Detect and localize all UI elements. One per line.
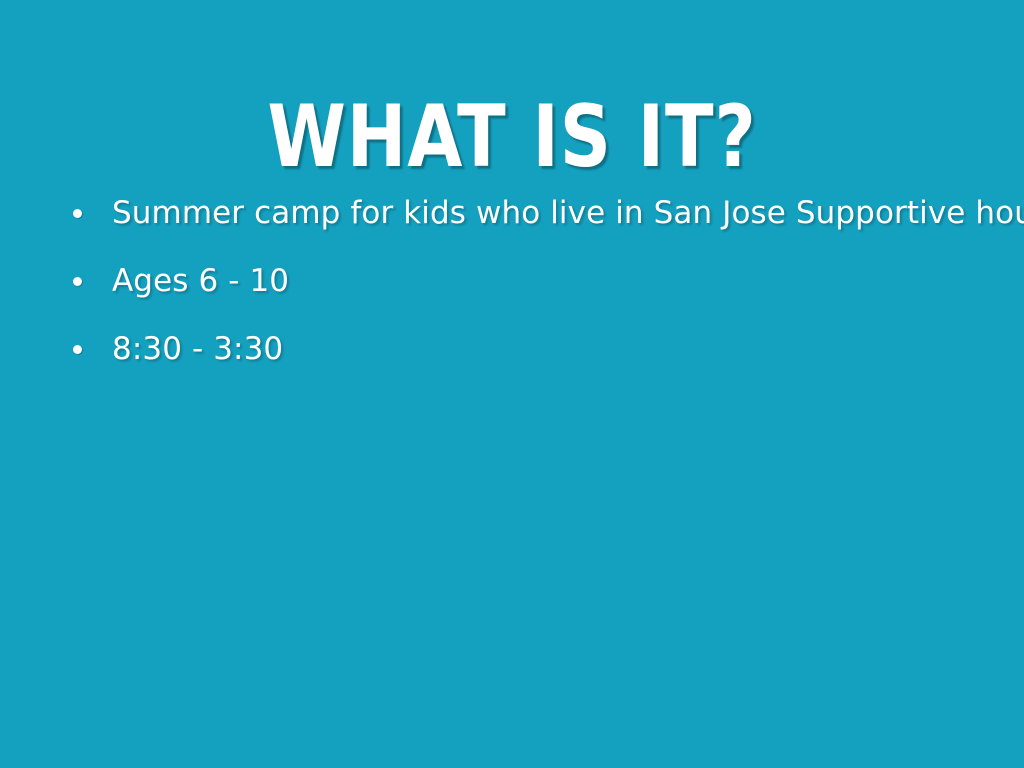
bullet-item-text: Ages 6 - 10 bbox=[112, 264, 994, 298]
slide-title: WHAT IS IT? bbox=[41, 92, 983, 182]
bullet-dot-icon bbox=[73, 345, 82, 354]
bullet-list: Summer camp for kids who live in San Jos… bbox=[64, 196, 994, 400]
presentation-slide: WHAT IS IT? Summer camp for kids who liv… bbox=[0, 0, 1024, 768]
list-item: Summer camp for kids who live in San Jos… bbox=[64, 196, 994, 230]
bullet-dot-icon bbox=[73, 209, 82, 218]
bullet-item-text: Summer camp for kids who live in San Jos… bbox=[112, 196, 994, 230]
list-item: 8:30 - 3:30 bbox=[64, 332, 994, 366]
bullet-dot-icon bbox=[73, 277, 82, 286]
bullet-item-text: 8:30 - 3:30 bbox=[112, 332, 994, 366]
list-item: Ages 6 - 10 bbox=[64, 264, 994, 298]
